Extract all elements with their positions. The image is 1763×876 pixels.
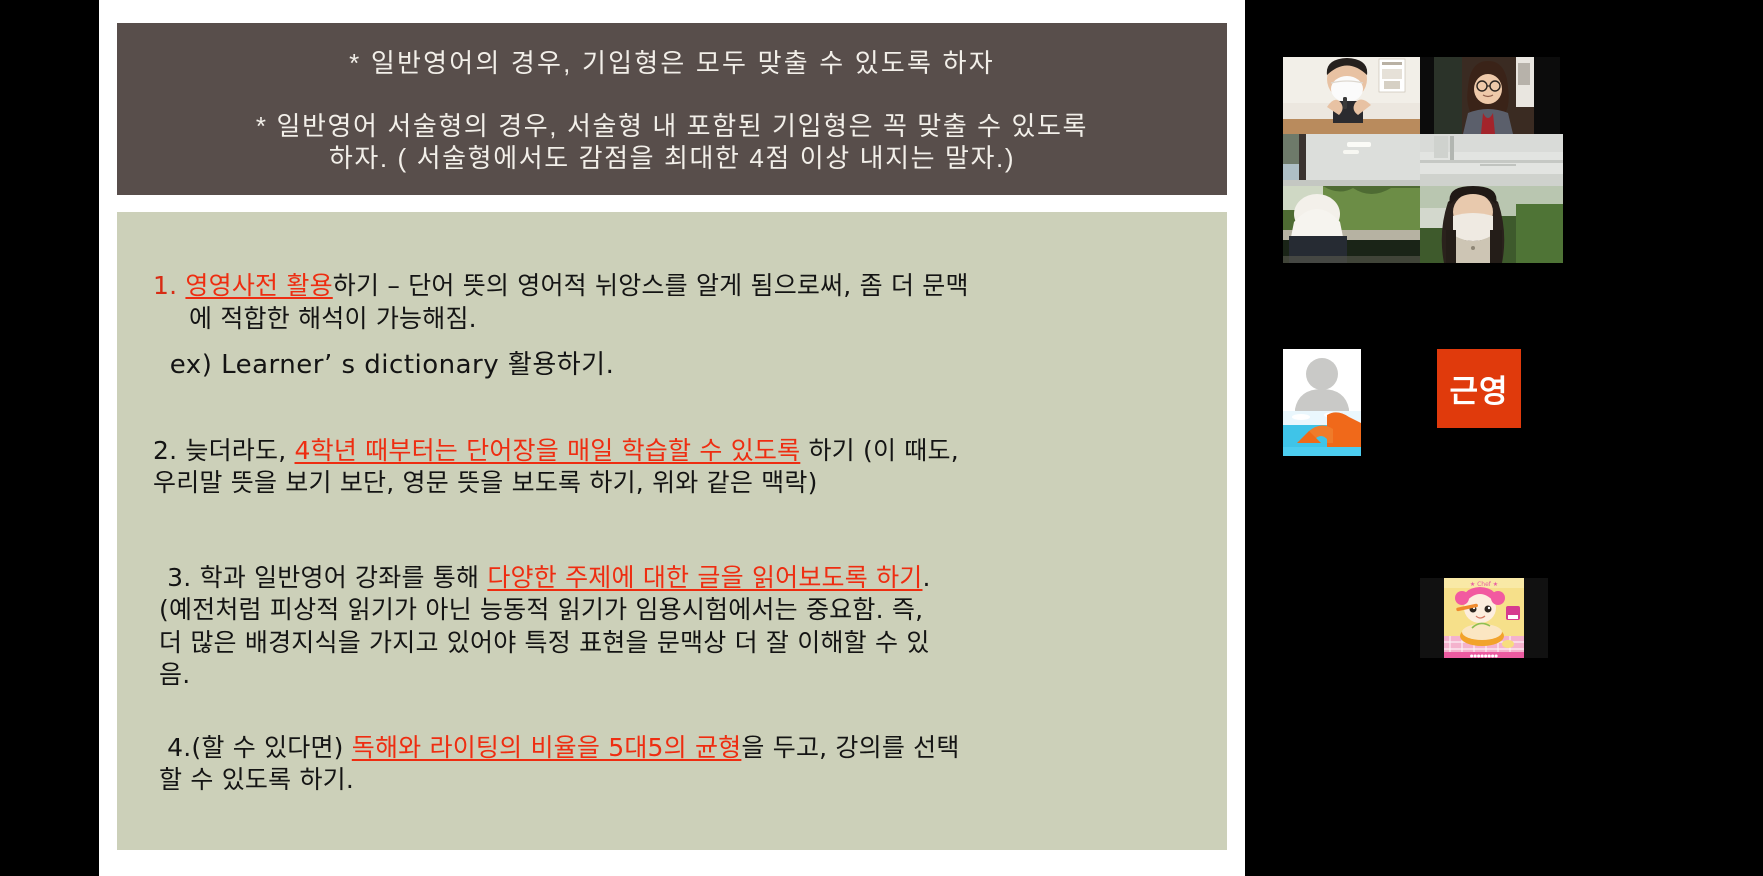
item-1-line-2: 에 적합한 해석이 가능해짐.: [153, 303, 1197, 336]
item-3-line-2: (예전처럼 피상적 읽기가 아닌 능동적 읽기가 임용시험에서는 중요함. 즉,: [159, 594, 1197, 627]
participant-1-video-frame: [1283, 57, 1420, 134]
slide-body-panel: 1. 영영사전 활용하기 – 단어 뜻의 영어적 뉘앙스를 알게 됨으로써, 좀…: [117, 212, 1227, 850]
participant-4-video-frame: [1420, 134, 1563, 186]
video-tile-panel: 근영 ★ Chef ★: [1245, 0, 1763, 876]
conference-screen: * 일반영어의 경우, 기입형은 모두 맞출 수 있도록 하자 * 일반영어 서…: [0, 0, 1763, 876]
item-4-highlight: 독해와 라이팅의 비율을 5대5의 균형: [352, 733, 742, 762]
item-3-before: 학과 일반영어 강좌를 통해: [200, 563, 488, 592]
item-1-number: 1.: [153, 271, 177, 300]
item-1-line-1: 1. 영영사전 활용하기 – 단어 뜻의 영어적 뉘앙스를 알게 됨으로써, 좀…: [153, 270, 1197, 303]
item-2-after: 하기 (이 때도,: [800, 436, 959, 465]
video-tile-participant-4[interactable]: [1420, 134, 1563, 186]
video-tile-participant-3[interactable]: [1283, 134, 1420, 186]
item-3-after: .: [923, 563, 931, 592]
item-4-after: 을 두고, 강의를 선택: [741, 733, 959, 762]
item-4-line-1: 4.(할 수 있다면) 독해와 라이팅의 비율을 5대5의 균형을 두고, 강의…: [159, 732, 1197, 765]
video-tile-participant-2[interactable]: [1420, 57, 1560, 134]
item-1-line-3: ex) Learner’ s dictionary 활용하기.: [153, 349, 1197, 383]
item-2-line-2: 우리말 뜻을 보기 보단, 영문 뜻을 보도록 하기, 위와 같은 맥락): [153, 467, 1197, 500]
item-2-before: 늦더라도,: [185, 436, 294, 465]
item-4-number: 4.: [159, 733, 191, 762]
slide-list-item-4: 4.(할 수 있다면) 독해와 라이팅의 비율을 5대5의 균형을 두고, 강의…: [153, 732, 1197, 797]
video-tile-participant-7-avatar[interactable]: [1283, 349, 1361, 456]
participant-name-label: 근영: [1449, 366, 1508, 411]
video-tile-participant-9-image[interactable]: ★ Chef ★: [1420, 578, 1548, 658]
item-3-line-1: 3. 학과 일반영어 강좌를 통해 다양한 주제에 대한 글을 읽어보도록 하기…: [159, 562, 1197, 595]
slide-list-item-2: 2. 늦더라도, 4학년 때부터는 단어장을 매일 학습할 수 있도록 하기 (…: [153, 435, 1197, 500]
slide-list-item-1: 1. 영영사전 활용하기 – 단어 뜻의 영어적 뉘앙스를 알게 됨으로써, 좀…: [153, 270, 1197, 383]
item-3-highlight: 다양한 주제에 대한 글을 읽어보도록 하기: [487, 563, 922, 592]
video-tile-participant-5[interactable]: [1283, 186, 1420, 263]
slide-header-banner: * 일반영어의 경우, 기입형은 모두 맞출 수 있도록 하자 * 일반영어 서…: [117, 23, 1227, 195]
item-1-rest: 하기 – 단어 뜻의 영어적 뉘앙스를 알게 됨으로써, 좀 더 문맥: [333, 271, 969, 300]
video-tile-participant-8-name-label[interactable]: 근영: [1437, 349, 1521, 428]
item-4-line-2: 할 수 있도록 하기.: [159, 764, 1197, 797]
default-avatar-icon: [1283, 349, 1361, 456]
participant-3-video-frame: [1283, 134, 1420, 186]
participant-6-video-frame: [1420, 186, 1563, 263]
item-4-before: (할 수 있다면): [191, 733, 351, 762]
svg-text:●●●●●●●●: ●●●●●●●●: [1470, 653, 1498, 658]
header-line-3: 하자. ( 서술형에서도 감점을 최대한 4점 이상 내지는 말자.): [135, 142, 1209, 175]
header-line-1: * 일반영어의 경우, 기입형은 모두 맞출 수 있도록 하자: [135, 47, 1209, 80]
svg-text:★ Chef ★: ★ Chef ★: [1470, 581, 1498, 588]
header-line-2: * 일반영어 서술형의 경우, 서술형 내 포함된 기입형은 꼭 맞출 수 있도…: [135, 110, 1209, 143]
item-3-number: 3.: [159, 563, 200, 592]
item-2-number: 2.: [153, 436, 185, 465]
shared-slide-stage[interactable]: * 일반영어의 경우, 기입형은 모두 맞출 수 있도록 하자 * 일반영어 서…: [99, 0, 1245, 876]
slide-list-item-3: 3. 학과 일반영어 강좌를 통해 다양한 주제에 대한 글을 읽어보도록 하기…: [153, 562, 1197, 692]
video-tile-participant-1[interactable]: [1283, 57, 1420, 134]
participant-5-video-frame: [1283, 186, 1420, 263]
video-tile-participant-6[interactable]: [1420, 186, 1563, 263]
participant-2-video-frame: [1420, 57, 1560, 134]
item-2-line-1: 2. 늦더라도, 4학년 때부터는 단어장을 매일 학습할 수 있도록 하기 (…: [153, 435, 1197, 468]
slide-canvas: * 일반영어의 경우, 기입형은 모두 맞출 수 있도록 하자 * 일반영어 서…: [99, 0, 1245, 865]
item-3-line-4: 음.: [159, 659, 1197, 692]
cartoon-cooking-game-thumbnail: ★ Chef ★: [1420, 578, 1548, 658]
item-1-highlight: 영영사전 활용: [185, 271, 332, 300]
item-2-highlight: 4학년 때부터는 단어장을 매일 학습할 수 있도록: [295, 436, 801, 465]
item-3-line-3: 더 많은 배경지식을 가지고 있어야 특정 표현을 문맥상 더 잘 이해할 수 …: [159, 627, 1197, 660]
